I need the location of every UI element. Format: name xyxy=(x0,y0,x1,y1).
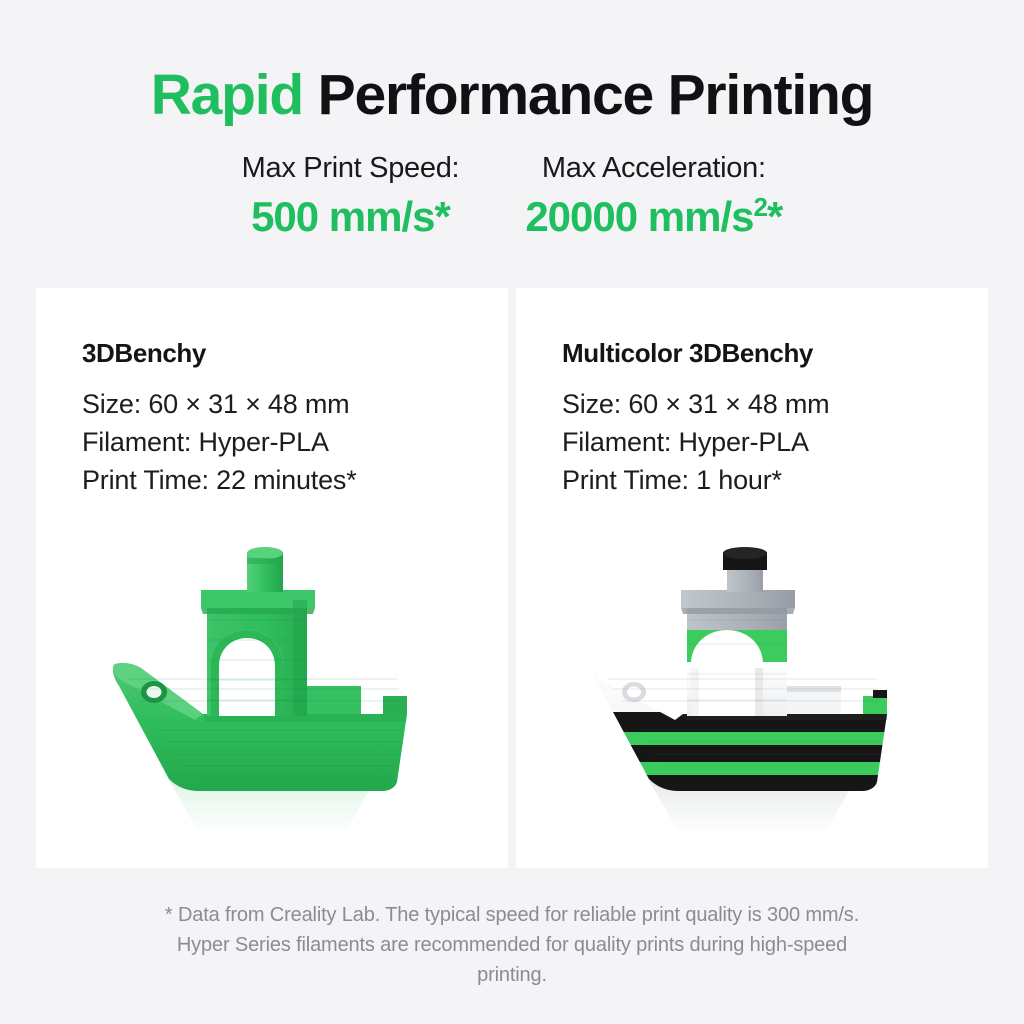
spec-value-print-speed-main: 500 mm/s xyxy=(251,193,434,240)
card-multicolor-3dbenchy: Multicolor 3DBenchy Size: 60 × 31 × 48 m… xyxy=(516,288,988,868)
spec-max-acceleration: Max Acceleration: 20000 mm/s2* xyxy=(525,150,782,243)
promo-page: Rapid Performance Printing Max Print Spe… xyxy=(0,0,1024,1024)
card-3dbenchy-print-time: Print Time: 22 minutes* xyxy=(82,461,488,499)
footnote-disclaimer: * Data from Creality Lab. The typical sp… xyxy=(152,900,872,990)
card-3dbenchy-title: 3DBenchy xyxy=(82,338,488,369)
card-3dbenchy-spec-list: Size: 60 × 31 × 48 mm Filament: Hyper-PL… xyxy=(82,385,488,499)
card-3dbenchy-size: Size: 60 × 31 × 48 mm xyxy=(82,385,488,423)
spec-value-acceleration-asterisk: * xyxy=(767,193,782,240)
spec-value-acceleration-superscript: 2 xyxy=(754,192,767,222)
card-multicolor-3dbenchy-print-time: Print Time: 1 hour* xyxy=(562,461,968,499)
card-3dbenchy: 3DBenchy Size: 60 × 31 × 48 mm Filament:… xyxy=(36,288,508,868)
spec-value-acceleration-main: 20000 mm/s xyxy=(525,193,753,240)
spec-max-print-speed: Max Print Speed: 500 mm/s* xyxy=(242,150,460,243)
spec-label-acceleration: Max Acceleration: xyxy=(525,150,782,186)
spec-value-print-speed: 500 mm/s* xyxy=(242,192,460,242)
spec-label-print-speed: Max Print Speed: xyxy=(242,150,460,186)
card-multicolor-3dbenchy-spec-list: Size: 60 × 31 × 48 mm Filament: Hyper-PL… xyxy=(562,385,968,499)
page-title-accent: Rapid xyxy=(151,63,303,127)
card-multicolor-3dbenchy-title: Multicolor 3DBenchy xyxy=(562,338,968,369)
card-multicolor-3dbenchy-size: Size: 60 × 31 × 48 mm xyxy=(562,385,968,423)
spec-value-print-speed-asterisk: * xyxy=(435,193,450,240)
card-multicolor-3dbenchy-filament: Filament: Hyper-PLA xyxy=(562,423,968,461)
page-title: Rapid Performance Printing xyxy=(0,62,1024,128)
card-multicolor-3dbenchy-model-stage xyxy=(516,538,988,868)
spec-row: Max Print Speed: 500 mm/s* Max Accelerat… xyxy=(0,150,1024,243)
card-multicolor-3dbenchy-body: Multicolor 3DBenchy Size: 60 × 31 × 48 m… xyxy=(562,338,968,499)
page-title-rest: Performance Printing xyxy=(303,63,873,127)
spec-value-acceleration: 20000 mm/s2* xyxy=(525,192,782,242)
benchy-multicolor-model-icon xyxy=(587,544,917,824)
card-3dbenchy-body: 3DBenchy Size: 60 × 31 × 48 mm Filament:… xyxy=(82,338,488,499)
card-3dbenchy-filament: Filament: Hyper-PLA xyxy=(82,423,488,461)
card-3dbenchy-model-stage xyxy=(36,538,508,868)
benchy-green-model-icon xyxy=(107,544,437,824)
card-row: 3DBenchy Size: 60 × 31 × 48 mm Filament:… xyxy=(36,288,988,868)
